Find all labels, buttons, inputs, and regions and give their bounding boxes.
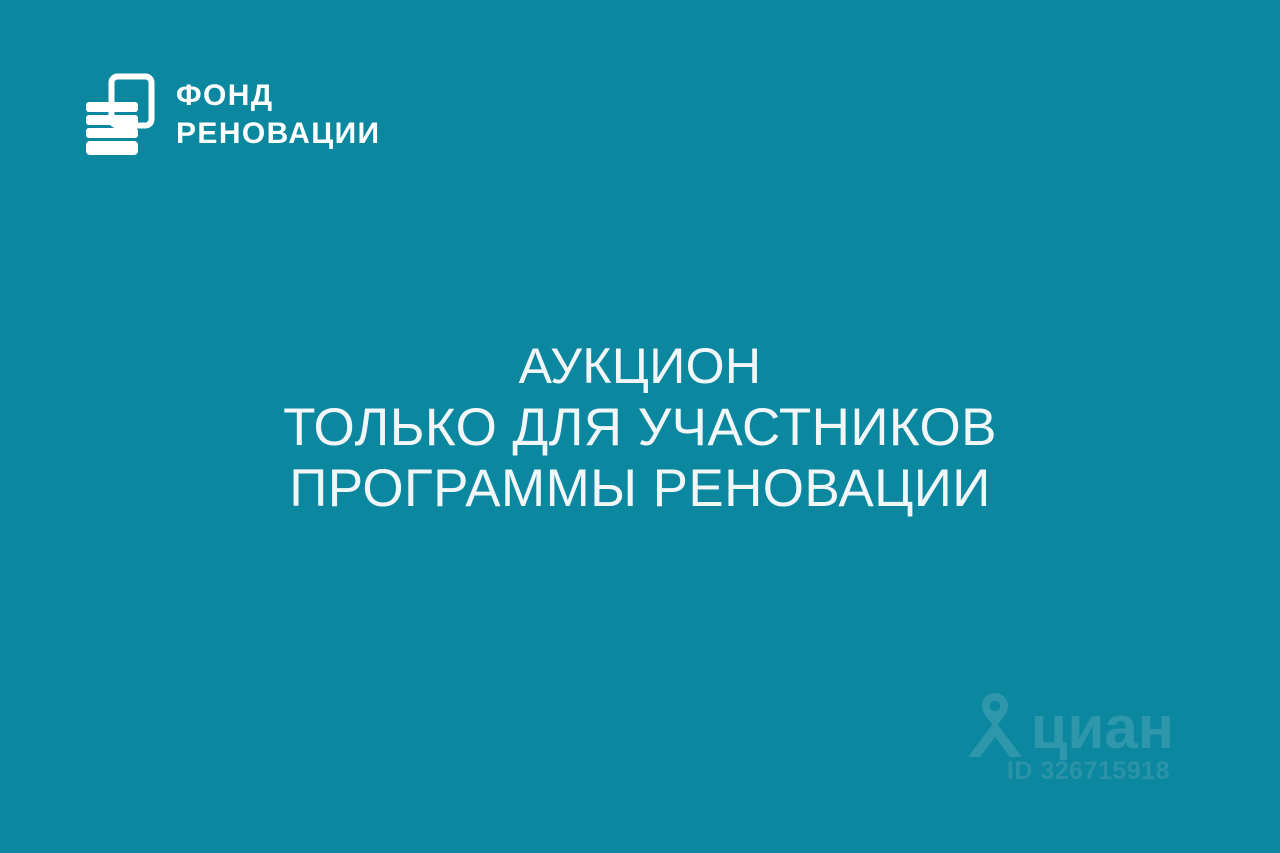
brand-line-1: ФОНД xyxy=(176,78,381,114)
cian-watermark-row: циан xyxy=(965,691,1174,759)
brand-lockup: ФОНД РЕНОВАЦИИ xyxy=(82,72,381,158)
headline-line-1: АУКЦИОН xyxy=(40,336,1240,397)
headline-line-3: ПРОГРАММЫ РЕНОВАЦИИ xyxy=(40,458,1240,519)
auction-banner: ФОНД РЕНОВАЦИИ АУКЦИОН ТОЛЬКО ДЛЯ УЧАСТН… xyxy=(0,0,1280,853)
brand-line-2: РЕНОВАЦИИ xyxy=(176,116,381,152)
stacked-documents-icon xyxy=(82,72,156,158)
listing-id-label: ID 326715918 xyxy=(1007,757,1170,785)
headline-block: АУКЦИОН ТОЛЬКО ДЛЯ УЧАСТНИКОВ ПРОГРАММЫ … xyxy=(0,336,1280,519)
map-pin-chevron-icon xyxy=(965,691,1025,759)
cian-wordmark: циан xyxy=(1031,699,1174,757)
cian-watermark: циан ID 326715918 xyxy=(965,691,1174,785)
brand-wordmark: ФОНД РЕНОВАЦИИ xyxy=(176,78,381,152)
headline-line-2: ТОЛЬКО ДЛЯ УЧАСТНИКОВ xyxy=(40,397,1240,458)
